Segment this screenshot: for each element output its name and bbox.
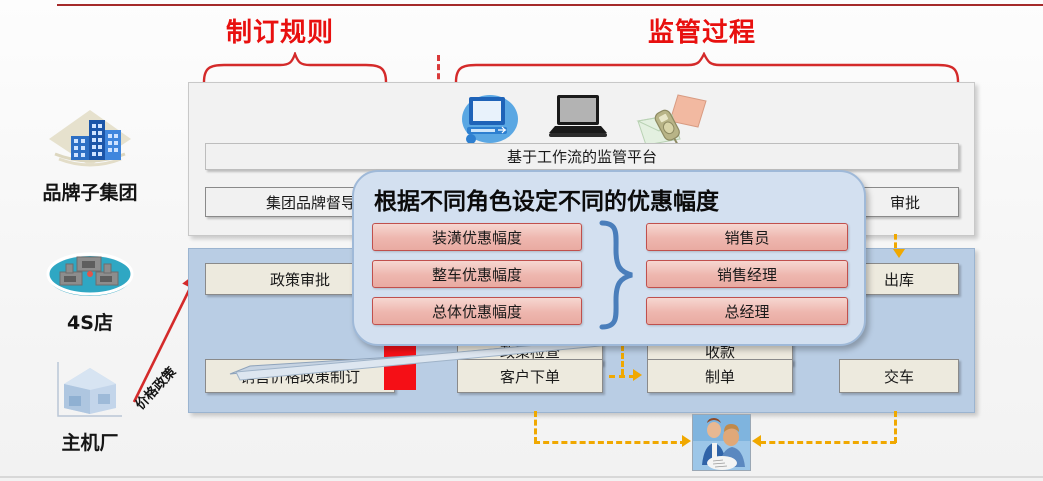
callout-left-item-2[interactable]: 整车优惠幅度 bbox=[372, 260, 582, 288]
laptop-icon bbox=[547, 93, 609, 143]
callout-left-item-1[interactable]: 装潢优惠幅度 bbox=[372, 223, 582, 251]
section-title-supervise: 监管过程 bbox=[648, 12, 756, 49]
bottom-divider-rule bbox=[0, 476, 1043, 478]
actor-brand-subgroup: 品牌子集团 bbox=[10, 108, 170, 205]
loop-left-horizontal bbox=[534, 441, 686, 444]
callout-title: 根据不同角色设定不同的优惠幅度 bbox=[374, 182, 719, 216]
right-curly-brace-icon bbox=[592, 220, 644, 330]
loop-right-arrowhead bbox=[752, 435, 761, 447]
actor-label-oem-plant: 主机厂 bbox=[10, 428, 170, 455]
brace-supervise-icon bbox=[452, 52, 962, 84]
section-title-rules: 制订规则 bbox=[226, 12, 334, 49]
loop-left-arrowhead bbox=[682, 435, 691, 447]
actor-label-brand-subgroup: 品牌子集团 bbox=[10, 178, 170, 205]
connector-warehouse-arrow bbox=[893, 249, 905, 258]
callout-right-item-2[interactable]: 销售经理 bbox=[646, 260, 848, 288]
box-approval-right[interactable]: 审批 bbox=[851, 187, 959, 217]
loop-left-vertical bbox=[534, 411, 537, 443]
workflow-platform-bar[interactable]: 基于工作流的监管平台 bbox=[205, 143, 959, 170]
box-make-bill[interactable]: 制单 bbox=[647, 359, 793, 393]
callout-right-item-3[interactable]: 总经理 bbox=[646, 297, 848, 325]
box-deliver-car[interactable]: 交车 bbox=[839, 359, 959, 393]
connector-approval-to-warehouse bbox=[894, 234, 897, 248]
top-divider-rule bbox=[57, 4, 1043, 6]
callout-right-item-1[interactable]: 销售员 bbox=[646, 223, 848, 251]
callout-left-item-3[interactable]: 总体优惠幅度 bbox=[372, 297, 582, 325]
brace-rules-icon bbox=[200, 52, 390, 84]
office-buildings-icon bbox=[45, 108, 135, 170]
loop-right-horizontal bbox=[760, 441, 896, 444]
desktop-computer-icon bbox=[459, 89, 521, 145]
slide-canvas: 制订规则 监管过程 bbox=[0, 0, 1043, 481]
role-discount-callout: 根据不同角色设定不同的优惠幅度 装潢优惠幅度 整车优惠幅度 总体优惠幅度 销售员… bbox=[352, 170, 866, 346]
phone-envelope-icon bbox=[634, 91, 712, 147]
loop-right-vertical bbox=[894, 411, 897, 443]
meeting-photo bbox=[692, 414, 751, 471]
